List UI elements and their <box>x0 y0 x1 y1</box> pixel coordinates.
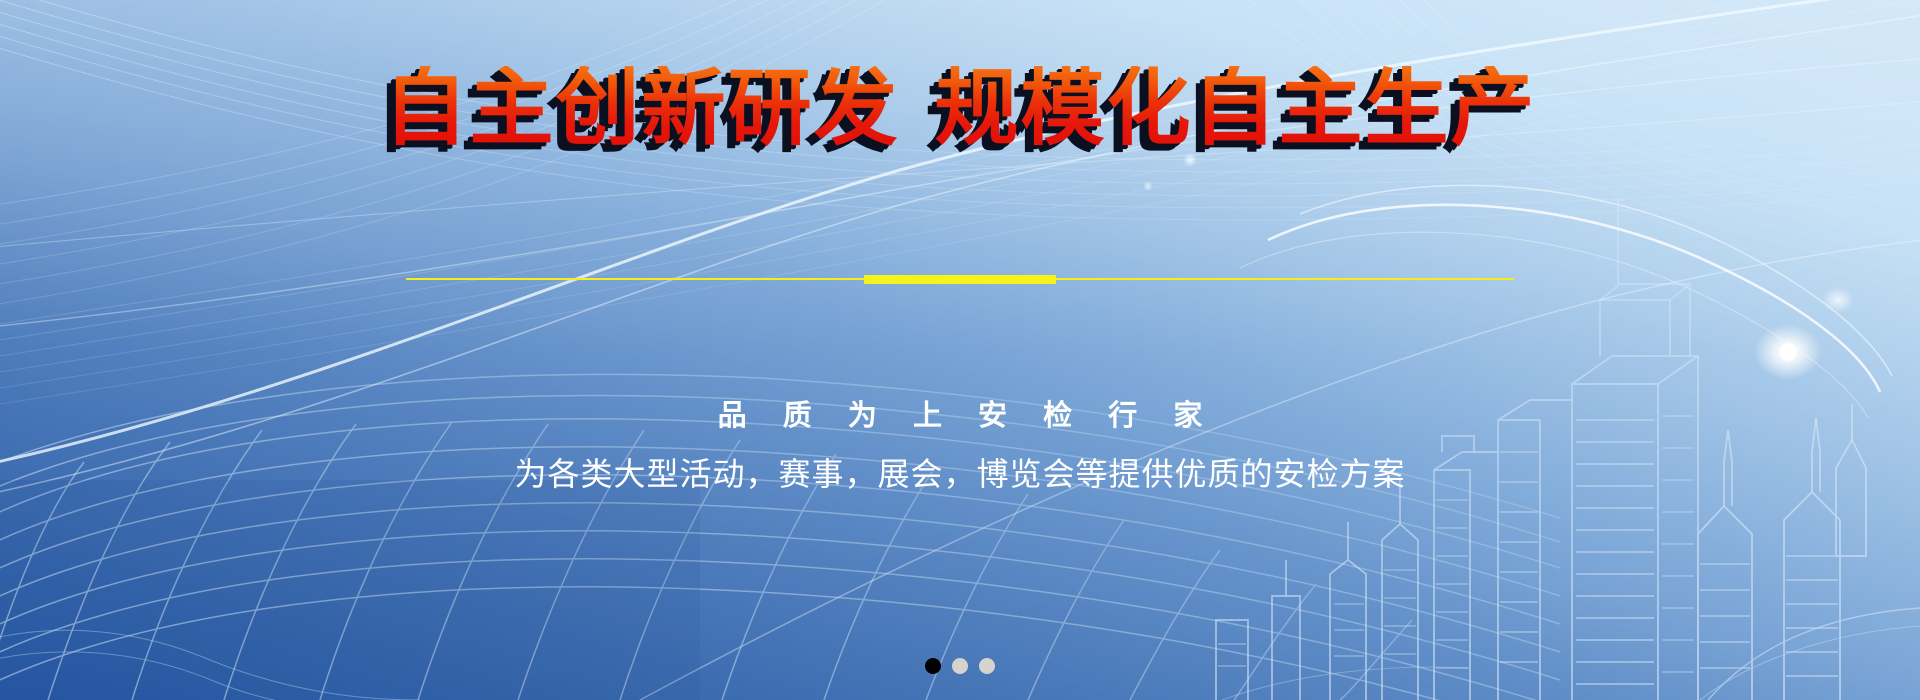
divider-accent-bar <box>864 275 1056 284</box>
yellow-divider <box>406 274 1514 286</box>
hero-banner: 自主创新研发 规模化自主生产 品 质 为 上 安 检 行 家 为各类大型活动，赛… <box>0 0 1920 700</box>
banner-headline: 自主创新研发 规模化自主生产 <box>0 66 1920 150</box>
subtitle-primary: 品 质 为 上 安 检 行 家 <box>0 392 1920 434</box>
headline-segment-1: 自主创新研发 <box>384 66 900 150</box>
carousel-dot-slide-3[interactable] <box>979 658 995 674</box>
carousel-dots <box>0 658 1920 674</box>
carousel-dot-slide-2[interactable] <box>952 658 968 674</box>
headline-segment-2: 规模化自主生产 <box>934 66 1536 150</box>
carousel-dot-slide-1[interactable] <box>925 658 941 674</box>
subtitle-secondary: 为各类大型活动，赛事，展会，博览会等提供优质的安检方案 <box>0 449 1920 495</box>
banner-content: 自主创新研发 规模化自主生产 品 质 为 上 安 检 行 家 为各类大型活动，赛… <box>0 0 1920 700</box>
